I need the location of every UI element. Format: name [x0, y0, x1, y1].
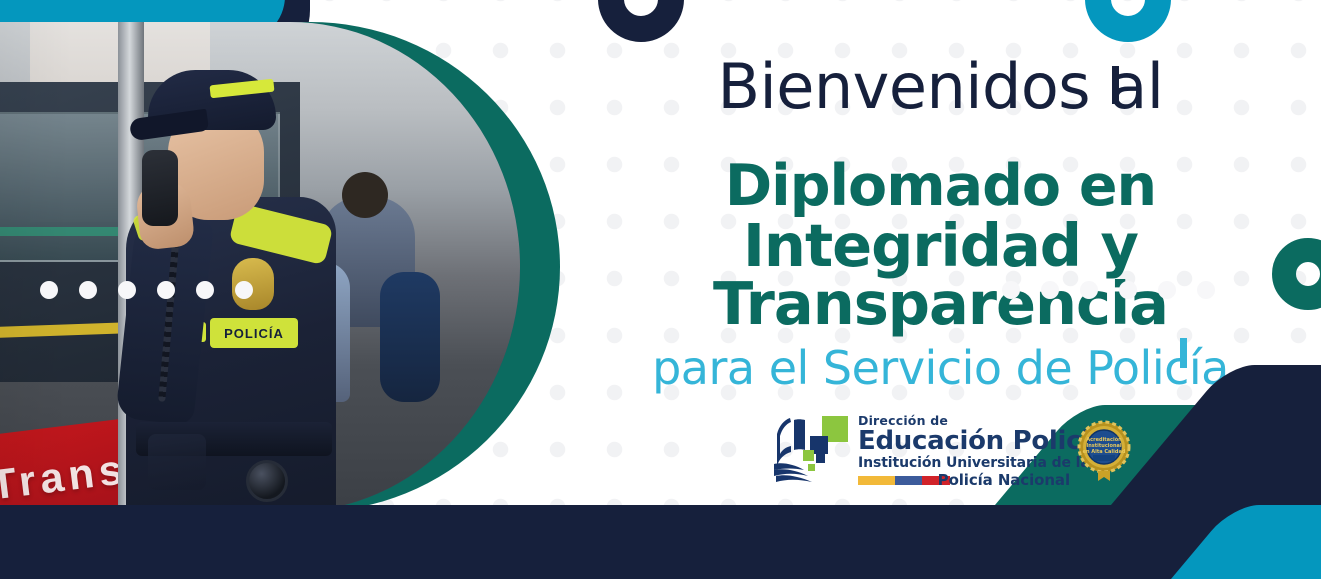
- course-subtitle: para el Servicio de Policía: [652, 341, 1229, 395]
- course-title-line-1: Diplomado en: [560, 159, 1321, 215]
- footer-dots-right: [1002, 281, 1215, 299]
- flag-stripe-blue: [895, 476, 923, 485]
- footer-dot: [1041, 281, 1059, 299]
- footer-dot: [235, 281, 253, 299]
- footer-dot: [79, 281, 97, 299]
- flag-stripe-yellow: [858, 476, 895, 485]
- footer-dot: [1197, 281, 1215, 299]
- footer-dot: [118, 281, 136, 299]
- colombia-flag-bar: [858, 476, 950, 485]
- course-title: Diplomado en Integridad y Transparencia: [560, 159, 1321, 332]
- footer-dots-left: [40, 281, 253, 299]
- footer-dot: [1002, 281, 1020, 299]
- footer-dot: [40, 281, 58, 299]
- hero-photo-panel: TransMile POLICÍA: [0, 22, 560, 512]
- open-book-icon: [760, 410, 852, 490]
- hero-photo-image: TransMile POLICÍA: [0, 22, 520, 512]
- logo-wordmark: Dirección de Educación Policial Instituc…: [858, 410, 1070, 490]
- accreditation-seal-icon: Acreditación Institucional en Alta Calid…: [1076, 419, 1132, 481]
- photo-edge-shading: [0, 22, 520, 512]
- logo-line-policia-nacional: Policía Nacional: [938, 473, 1070, 488]
- welcome-text: Bienvenidos al: [717, 54, 1163, 119]
- svg-text:Acreditación: Acreditación: [1086, 436, 1122, 443]
- footer-dot: [196, 281, 214, 299]
- institution-logo: Dirección de Educación Policial Instituc…: [760, 408, 1135, 492]
- footer-dot: [1119, 281, 1137, 299]
- footer-dot: [1158, 281, 1176, 299]
- photo-clip-mask: TransMile POLICÍA: [0, 22, 520, 512]
- banner-root: TransMile POLICÍA: [0, 0, 1321, 579]
- footer-dot: [157, 281, 175, 299]
- logo-line-institucion: Institución Universitaria de la: [858, 456, 1090, 470]
- svg-text:en Alta Calidad: en Alta Calidad: [1083, 449, 1126, 455]
- footer-dot: [1080, 281, 1098, 299]
- footer-bar: [0, 505, 1321, 579]
- course-title-line-2: Integridad y Transparencia: [560, 217, 1321, 333]
